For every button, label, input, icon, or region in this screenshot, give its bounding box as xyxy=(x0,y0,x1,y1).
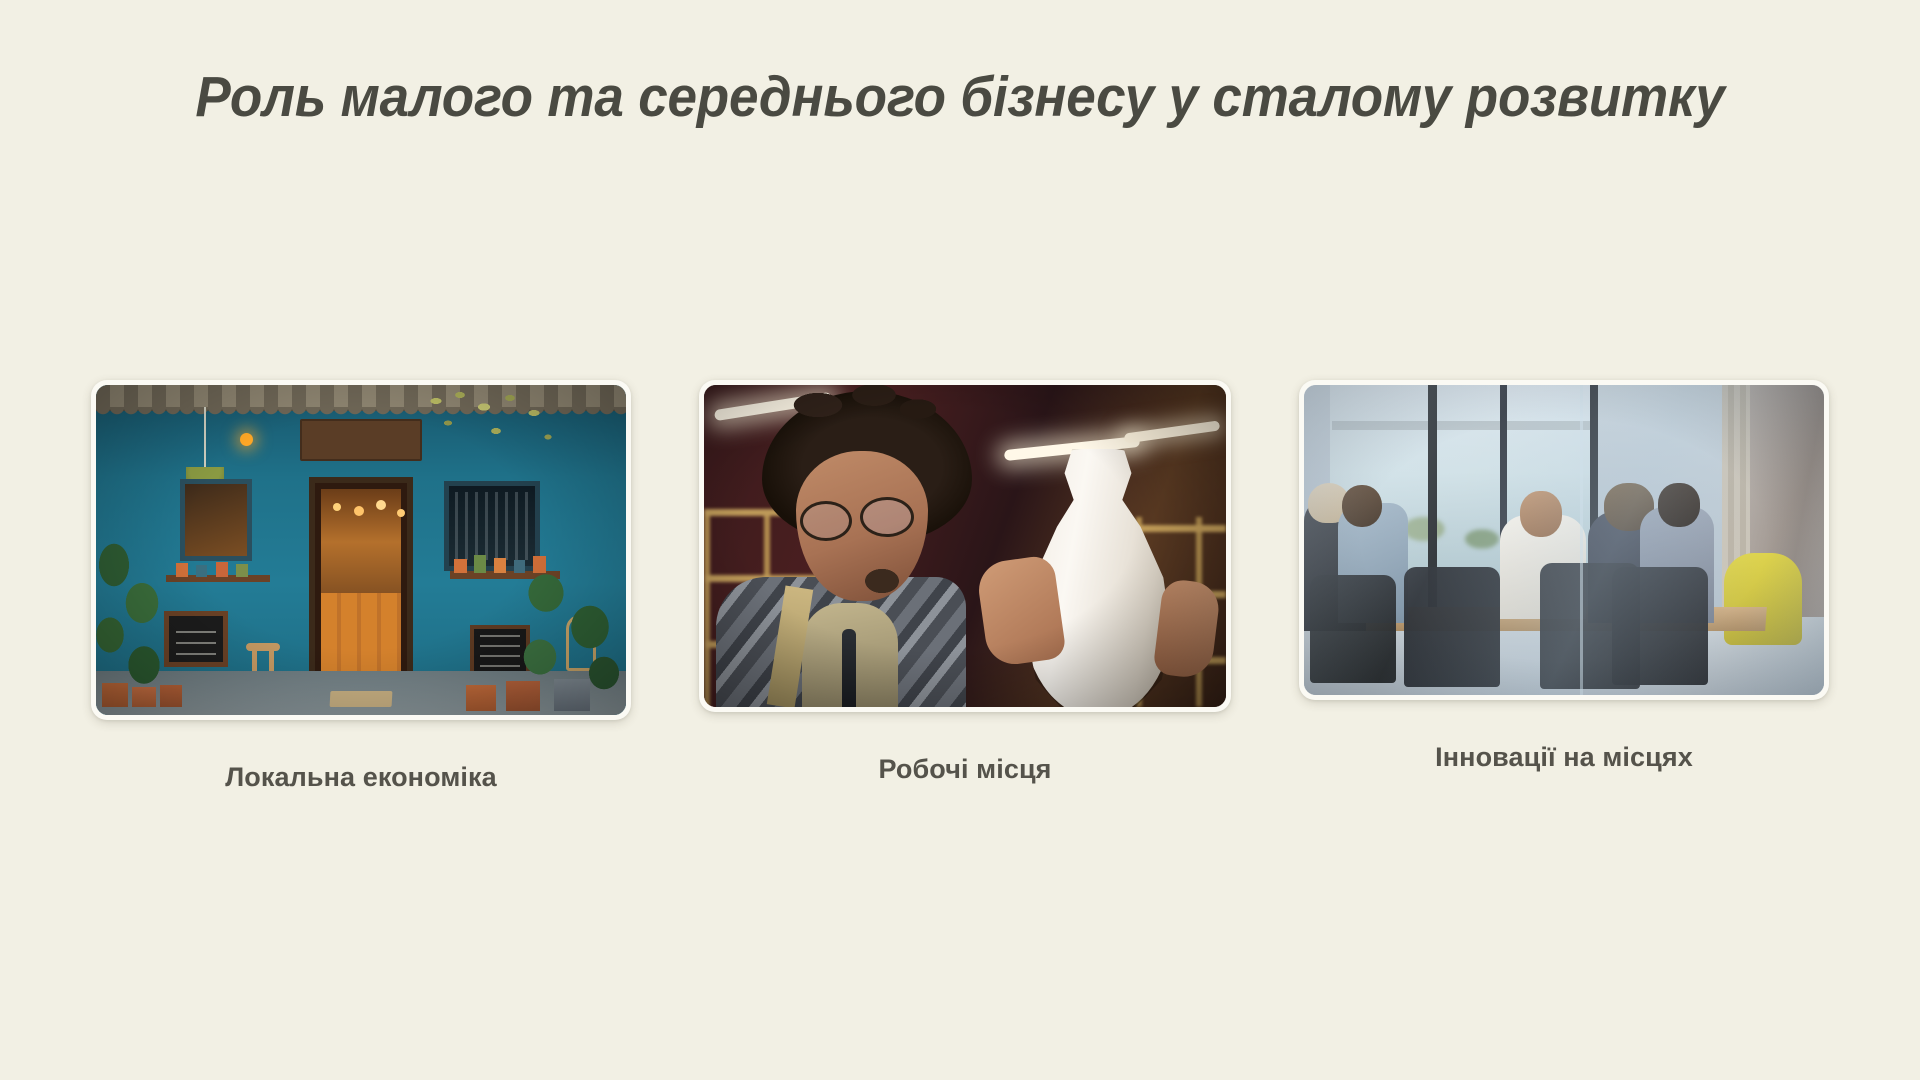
page-title: Роль малого та середнього бізнесу у стал… xyxy=(67,64,1853,130)
card-caption: Локальна економіка xyxy=(225,762,496,793)
card-caption: Інновації на місцях xyxy=(1435,742,1693,773)
vignette-overlay xyxy=(96,385,626,715)
vignette-overlay xyxy=(1304,385,1824,695)
card-caption: Робочі місця xyxy=(878,754,1051,785)
photo-frame xyxy=(91,380,631,720)
slide-canvas: Роль малого та середнього бізнесу у стал… xyxy=(0,0,1920,1080)
photo-frame xyxy=(1299,380,1829,700)
potter-photo xyxy=(704,385,1226,707)
card-row: Локальна економіка xyxy=(90,380,1830,800)
photo-frame xyxy=(699,380,1231,712)
vignette-overlay xyxy=(704,385,1226,707)
card-local-economy[interactable]: Локальна економіка xyxy=(90,380,632,793)
storefront-photo xyxy=(96,385,626,715)
office-meeting-photo xyxy=(1304,385,1824,695)
card-innovation[interactable]: Інновації на місцях xyxy=(1298,380,1830,773)
card-jobs[interactable]: Робочі місця xyxy=(698,380,1232,785)
